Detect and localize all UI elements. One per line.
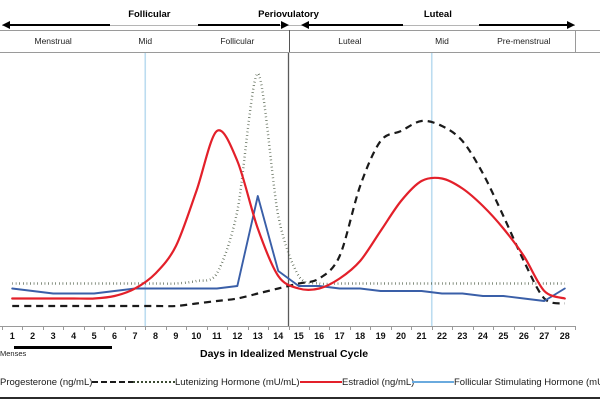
phase-label-luteal: Luteal [378,9,498,20]
day-label-2: 2 [23,331,43,341]
phase-label-follicular: Follicular [89,9,209,20]
x-axis-title: Days in Idealized Menstrual Cycle [200,348,368,360]
x-tick [186,326,187,330]
plot-area [0,53,600,326]
day-label-16: 16 [309,331,329,341]
day-label-24: 24 [473,331,493,341]
x-tick [309,326,310,330]
subphase-follicular: Follicular [177,36,297,46]
x-tick [104,326,105,330]
day-label-20: 20 [391,331,411,341]
x-tick [207,326,208,330]
day-label-26: 26 [514,331,534,341]
day-label-14: 14 [268,331,288,341]
header-rule-upper [0,30,600,31]
day-label-18: 18 [350,331,370,341]
day-label-10: 10 [186,331,206,341]
day-label-28: 28 [555,331,575,341]
legend-swatch-solid-icon [300,377,342,387]
x-tick [493,326,494,330]
day-label-8: 8 [145,331,165,341]
day-label-21: 21 [412,331,432,341]
legend-label: Follicular Stimulating Hormone (mU/mL) [454,377,600,388]
day-label-5: 5 [84,331,104,341]
legend-item-1[interactable]: Lutenizing Hormone (mU/mL) [133,371,300,393]
x-tick [22,326,23,330]
x-tick [391,326,392,330]
hormone-cycle-chart: FollicularPeriovulatoryLuteal MenstrualM… [0,0,600,401]
x-tick [514,326,515,330]
x-tick [411,326,412,330]
x-tick [145,326,146,330]
day-label-4: 4 [64,331,84,341]
x-tick [432,326,433,330]
day-label-13: 13 [248,331,268,341]
day-label-11: 11 [207,331,227,341]
day-label-15: 15 [289,331,309,341]
legend-item-0[interactable]: Progesterone (ng/mL) [0,371,134,393]
legend-label: Lutenizing Hormone (mU/mL) [175,377,300,388]
x-tick [227,326,228,330]
legend-swatch-solid-icon [412,377,454,387]
day-label-1: 1 [2,331,22,341]
chart-legend: Progesterone (ng/mL)Lutenizing Hormone (… [0,371,600,401]
day-label-25: 25 [493,331,513,341]
legend-bottom-rule [0,397,600,399]
x-tick [268,326,269,330]
subphase-pre-menstrual: Pre-menstrual [464,36,584,46]
day-label-3: 3 [43,331,63,341]
day-label-19: 19 [371,331,391,341]
x-tick [555,326,556,330]
day-label-12: 12 [227,331,247,341]
legend-label: Progesterone (ng/mL) [0,377,92,388]
x-axis: 1234567891011121314151617181920212223242… [0,326,600,366]
day-label-22: 22 [432,331,452,341]
x-tick [166,326,167,330]
x-tick [370,326,371,330]
phase-label-periovulatory: Periovulatory [229,9,349,20]
x-tick [63,326,64,330]
x-tick [473,326,474,330]
day-label-17: 17 [330,331,350,341]
x-tick [534,326,535,330]
x-tick [452,326,453,330]
hormone-curves-svg [0,53,600,326]
day-label-9: 9 [166,331,186,341]
day-label-7: 7 [125,331,145,341]
legend-label: Estradiol (ng/mL) [342,377,414,388]
legend-item-2[interactable]: Estradiol (ng/mL) [300,371,414,393]
legend-swatch-dotted-icon [133,377,175,387]
legend-swatch-dashed-icon [92,377,134,387]
legend-item-3[interactable]: Follicular Stimulating Hormone (mU/mL) [412,371,600,393]
x-tick [125,326,126,330]
x-tick [84,326,85,330]
menses-bar [14,346,112,349]
day-label-23: 23 [452,331,472,341]
x-tick [289,326,290,330]
menses-label: Menses [0,349,26,358]
x-tick [248,326,249,330]
day-label-6: 6 [105,331,125,341]
day-label-27: 27 [534,331,554,341]
x-tick [2,326,3,330]
x-tick [43,326,44,330]
x-tick [329,326,330,330]
x-tick [350,326,351,330]
x-tick [575,326,576,330]
